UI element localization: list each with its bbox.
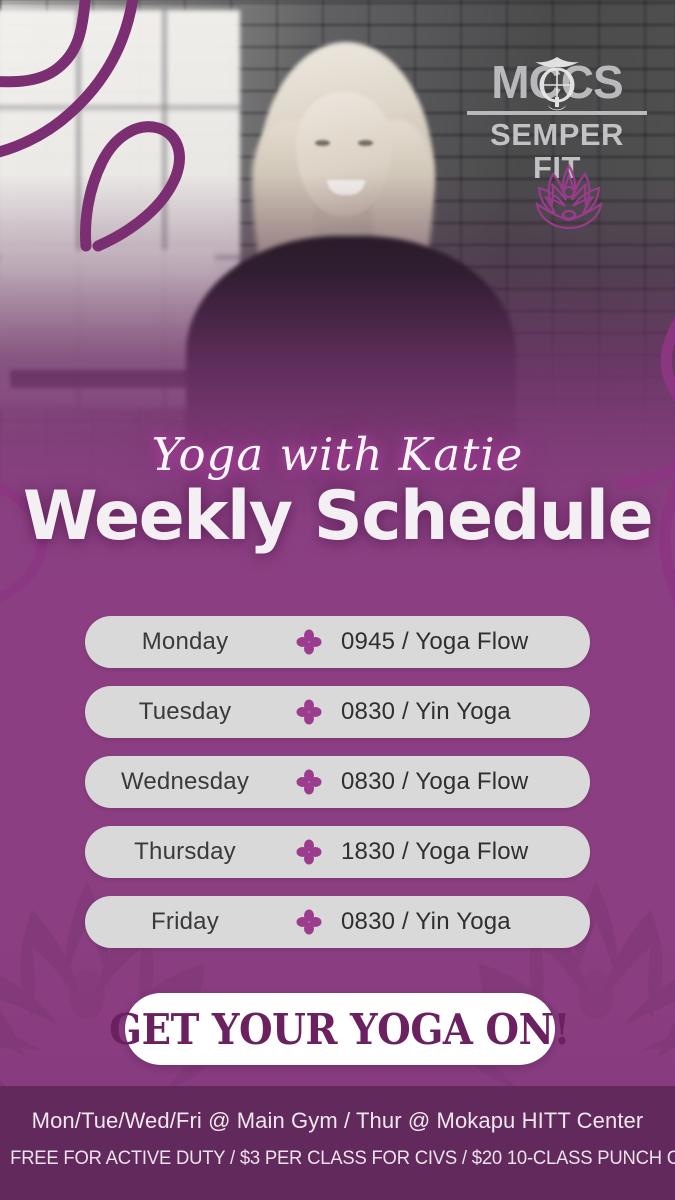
schedule-day-label: Friday (85, 908, 285, 936)
eagle-globe-anchor-icon (526, 51, 588, 113)
four-petal-flower-icon (285, 699, 333, 725)
schedule-class-label: 0830 / Yin Yoga (333, 698, 590, 726)
footer-bar: Mon/Tue/Wed/Fri @ Main Gym / Thur @ Moka… (0, 1086, 675, 1200)
schedule-list: Monday 0945 / Yoga Flow Tuesday (85, 616, 590, 966)
footer-pricing: FREE FOR ACTIVE DUTY / $3 PER CLASS FOR … (10, 1148, 665, 1170)
schedule-row-wednesday[interactable]: Wednesday 0830 / Yoga Flow (85, 756, 590, 808)
schedule-row-monday[interactable]: Monday 0945 / Yoga Flow (85, 616, 590, 668)
schedule-class-label: 0830 / Yin Yoga (333, 908, 590, 936)
schedule-row-tuesday[interactable]: Tuesday 0830 / Yin Yoga (85, 686, 590, 738)
four-petal-flower-icon (285, 629, 333, 655)
swirl-decoration-top-left (0, 0, 246, 258)
schedule-day-label: Wednesday (85, 768, 285, 796)
lotus-flower-icon (529, 160, 609, 232)
schedule-day-label: Monday (85, 628, 285, 656)
four-petal-flower-icon (285, 839, 333, 865)
yoga-schedule-poster: MCCS SEMPER FIT (0, 0, 675, 1200)
logo-wordmark-row: MCCS (467, 56, 647, 108)
script-title: Yoga with Katie (0, 432, 675, 477)
four-petal-flower-icon (285, 769, 333, 795)
schedule-class-label: 1830 / Yoga Flow (333, 838, 590, 866)
schedule-class-label: 0830 / Yoga Flow (333, 768, 590, 796)
schedule-row-friday[interactable]: Friday 0830 / Yin Yoga (85, 896, 590, 948)
footer-locations: Mon/Tue/Wed/Fri @ Main Gym / Thur @ Moka… (0, 1108, 675, 1134)
schedule-row-thursday[interactable]: Thursday 1830 / Yoga Flow (85, 826, 590, 878)
page-title: Weekly Schedule (0, 483, 675, 551)
cta-banner[interactable]: GET YOUR YOGA ON! (125, 993, 555, 1065)
four-petal-flower-icon (285, 909, 333, 935)
schedule-day-label: Thursday (85, 838, 285, 866)
schedule-day-label: Tuesday (85, 698, 285, 726)
schedule-class-label: 0945 / Yoga Flow (333, 628, 590, 656)
cta-label: GET YOUR YOGA ON! (110, 1005, 571, 1054)
title-block: Yoga with Katie Weekly Schedule (0, 432, 675, 551)
